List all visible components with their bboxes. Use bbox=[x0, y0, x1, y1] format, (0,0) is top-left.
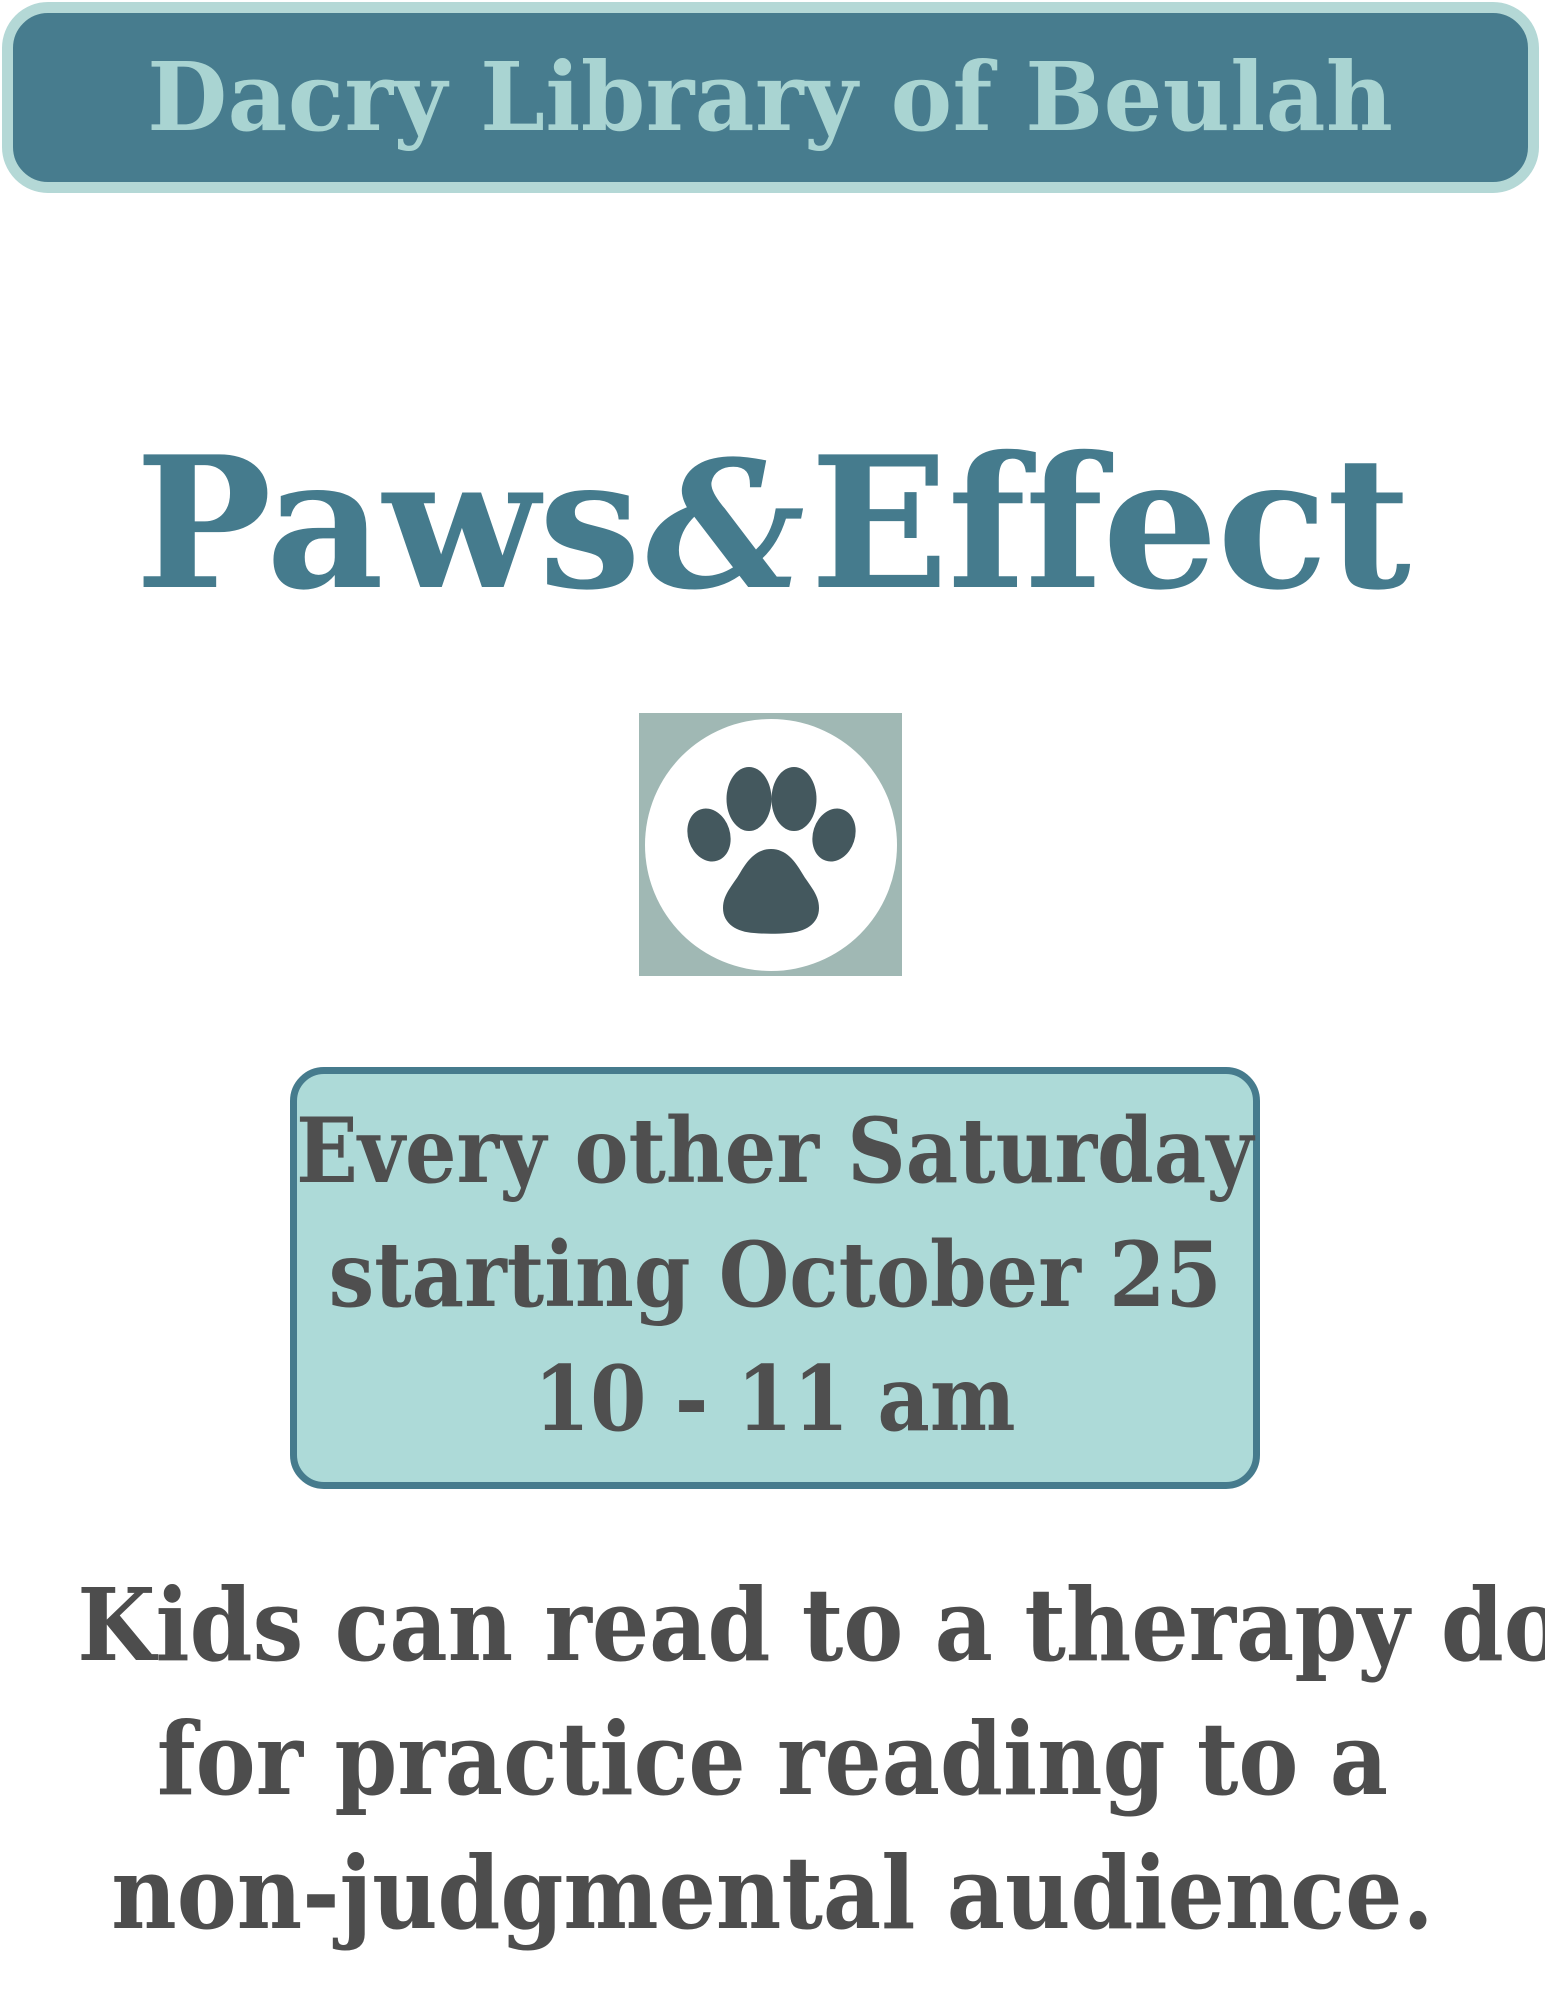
library-name: Dacry Library of Beulah bbox=[147, 50, 1393, 145]
program-description: Kids can read to a therapy dog for pract… bbox=[0, 1558, 1545, 1960]
program-title-part-two: Effect bbox=[810, 416, 1410, 630]
program-title: Paws&Effect bbox=[0, 432, 1545, 614]
paw-print-badge bbox=[639, 713, 902, 976]
schedule-line-1: Every other Saturday bbox=[296, 1089, 1253, 1213]
schedule-box: Every other Saturday starting October 25… bbox=[290, 1067, 1260, 1489]
schedule-line-3: 10 - 11 am bbox=[534, 1337, 1016, 1461]
ampersand-glyph: & bbox=[640, 422, 810, 629]
library-name-banner: Dacry Library of Beulah bbox=[2, 2, 1539, 193]
description-line-1: Kids can read to a therapy dog bbox=[77, 1558, 1468, 1692]
description-line-2: for practice reading to a bbox=[77, 1692, 1468, 1826]
schedule-line-2: starting October 25 bbox=[328, 1213, 1221, 1337]
paw-print-icon bbox=[678, 753, 864, 939]
poster: Dacry Library of Beulah Paws&Effect Ever… bbox=[0, 0, 1545, 2000]
description-line-3: non-judgmental audience. bbox=[77, 1826, 1468, 1960]
program-title-part-one: Paws bbox=[135, 416, 640, 630]
